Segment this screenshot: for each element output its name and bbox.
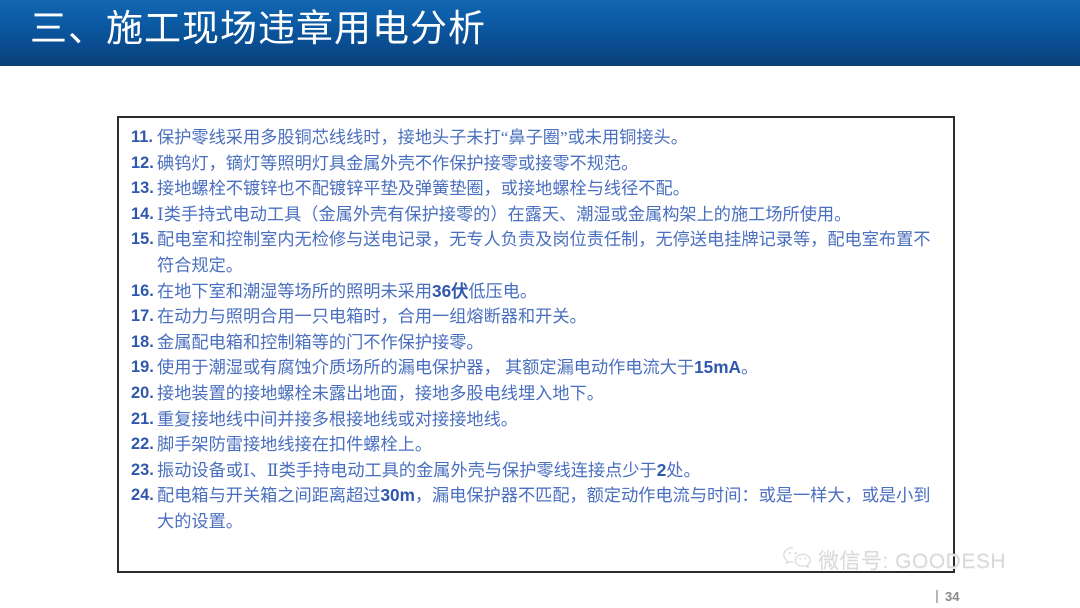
list-item-number: 22. [131,432,154,458]
list-item-text: 配电室和控制室内无检修与送电记录，无专人负责及岗位责任制，无停送电挂牌记录等，配… [157,230,930,275]
list-item: 22.脚手架防雷接地线接在扣件螺栓上。 [131,432,943,458]
list-item-text-part: 接地装置的接地螺栓未露出地面，接地多股电线埋入地下。 [157,384,604,403]
list-item-text: 使用于潮湿或有腐蚀介质场所的漏电保护器， 其额定漏电动作电流大于15mA。 [157,358,758,377]
list-item-text: Ⅰ类手持式电动工具（金属外壳有保护接零的）在露天、潮湿或金属构架上的施工场所使用… [157,205,851,224]
list-item-text-part: 金属配电箱和控制箱等的门不作保护接零。 [157,333,484,352]
list-item-text: 金属配电箱和控制箱等的门不作保护接零。 [157,333,484,352]
list-item-text: 保护零线采用多股铜芯线线时，接地头子未打“鼻子圈”或未用铜接头。 [157,128,688,147]
list-item: 23.振动设备或Ⅰ、Ⅱ类手持电动工具的金属外壳与保护零线连接点少于2处。 [131,458,943,484]
list-item: 16.在地下室和潮湿等场所的照明未采用36伏低压电。 [131,279,943,305]
list-item-text-part: 接地螺栓不镀锌也不配镀锌平垫及弹簧垫圈，或接地螺栓与线径不配。 [157,179,690,198]
list-item-text-part: 在地下室和潮湿等场所的照明未采用 [157,282,432,301]
list-item-number: 23. [131,458,154,484]
list-item: 18.金属配电箱和控制箱等的门不作保护接零。 [131,330,943,356]
list-item-text: 重复接地线中间并接多根接地线或对接接地线。 [157,410,518,429]
page-title: 三、施工现场违章用电分析 [30,4,730,56]
content-frame: 11.保护零线采用多股铜芯线线时，接地头子未打“鼻子圈”或未用铜接头。12.碘钨… [117,116,955,573]
page-number-divider [936,590,938,603]
page-number: 34 [936,589,959,604]
list-item-text-part: 振动设备或Ⅰ、Ⅱ类手持电动工具的金属外壳与保护零线连接点少于 [157,461,657,480]
list-item: 12.碘钨灯，镝灯等照明灯具金属外壳不作保护接零或接零不规范。 [131,151,943,177]
list-item-number: 12. [131,151,154,177]
list-item-number: 15. [131,227,154,253]
list-item: 14.Ⅰ类手持式电动工具（金属外壳有保护接零的）在露天、潮湿或金属构架上的施工场… [131,202,943,228]
list-item-emphasis: 2 [657,460,667,480]
list-item-emphasis: 30m [380,485,414,505]
list-item-text: 脚手架防雷接地线接在扣件螺栓上。 [157,435,432,454]
violation-list: 11.保护零线采用多股铜芯线线时，接地头子未打“鼻子圈”或未用铜接头。12.碘钨… [131,125,943,535]
page-number-value: 34 [945,589,959,604]
list-item-text-part: 碘钨灯，镝灯等照明灯具金属外壳不作保护接零或接零不规范。 [157,154,638,173]
list-item-text-part: 使用于潮湿或有腐蚀介质场所的漏电保护器， 其额定漏电动作电流大于 [157,358,694,377]
list-item-text-part: 保护零线采用多股铜芯线线时，接地头子未打“鼻子圈”或未用铜接头。 [157,128,688,147]
wechat-id-label: 微信号: GOODESH [818,545,1006,575]
list-item-number: 20. [131,381,154,407]
list-item-text-part: 低压电。 [468,282,537,301]
list-item-text: 接地装置的接地螺栓未露出地面，接地多股电线埋入地下。 [157,384,604,403]
list-item: 17.在动力与照明合用一只电箱时，合用一组熔断器和开关。 [131,304,943,330]
list-item: 13.接地螺栓不镀锌也不配镀锌平垫及弹簧垫圈，或接地螺栓与线径不配。 [131,176,943,202]
list-item-number: 18. [131,330,154,356]
wechat-watermark: 微信号: GOODESH [782,545,1006,575]
list-item-number: 21. [131,407,154,433]
list-item: 11.保护零线采用多股铜芯线线时，接地头子未打“鼻子圈”或未用铜接头。 [131,125,943,151]
list-item-text-part: 配电室和控制室内无检修与送电记录，无专人负责及岗位责任制，无停送电挂牌记录等，配… [157,230,930,275]
list-item-number: 14. [131,202,154,228]
list-item-number: 16. [131,279,154,305]
list-item-text: 在动力与照明合用一只电箱时，合用一组熔断器和开关。 [157,307,587,326]
list-item-number: 24. [131,483,154,509]
list-item: 19.使用于潮湿或有腐蚀介质场所的漏电保护器， 其额定漏电动作电流大于15mA。 [131,355,943,381]
list-item-text: 碘钨灯，镝灯等照明灯具金属外壳不作保护接零或接零不规范。 [157,154,638,173]
list-item: 15.配电室和控制室内无检修与送电记录，无专人负责及岗位责任制，无停送电挂牌记录… [131,227,943,278]
list-item-text: 接地螺栓不镀锌也不配镀锌平垫及弹簧垫圈，或接地螺栓与线径不配。 [157,179,690,198]
list-item-text-part: 脚手架防雷接地线接在扣件螺栓上。 [157,435,432,454]
list-item-text-part: 重复接地线中间并接多根接地线或对接接地线。 [157,410,518,429]
list-item-text-part: 在动力与照明合用一只电箱时，合用一组熔断器和开关。 [157,307,587,326]
list-item-number: 13. [131,176,154,202]
list-item: 24.配电箱与开关箱之间距离超过30m，漏电保护器不匹配，额定动作电流与时间：或… [131,483,943,534]
list-item-number: 19. [131,355,154,381]
list-item: 21.重复接地线中间并接多根接地线或对接接地线。 [131,407,943,433]
list-item-emphasis: 15mA [694,357,741,377]
list-item: 20.接地装置的接地螺栓未露出地面，接地多股电线埋入地下。 [131,381,943,407]
wechat-icon [782,545,812,575]
slide-title-banner: 三、施工现场违章用电分析 [0,0,1080,66]
list-item-text-part: 处。 [666,461,700,480]
list-item-text: 振动设备或Ⅰ、Ⅱ类手持电动工具的金属外壳与保护零线连接点少于2处。 [157,461,701,480]
list-item-text-part: Ⅰ类手持式电动工具（金属外壳有保护接零的）在露天、潮湿或金属构架上的施工场所使用… [157,205,851,224]
list-item-text: 配电箱与开关箱之间距离超过30m，漏电保护器不匹配，额定动作电流与时间：或是一样… [157,486,931,531]
list-item-number: 17. [131,304,154,330]
list-item-text: 在地下室和潮湿等场所的照明未采用36伏低压电。 [157,282,537,301]
list-item-number: 11. [131,125,153,151]
list-item-emphasis: 36伏 [432,281,468,301]
list-item-text-part: 。 [741,358,758,377]
list-item-text-part: 配电箱与开关箱之间距离超过 [157,486,380,505]
